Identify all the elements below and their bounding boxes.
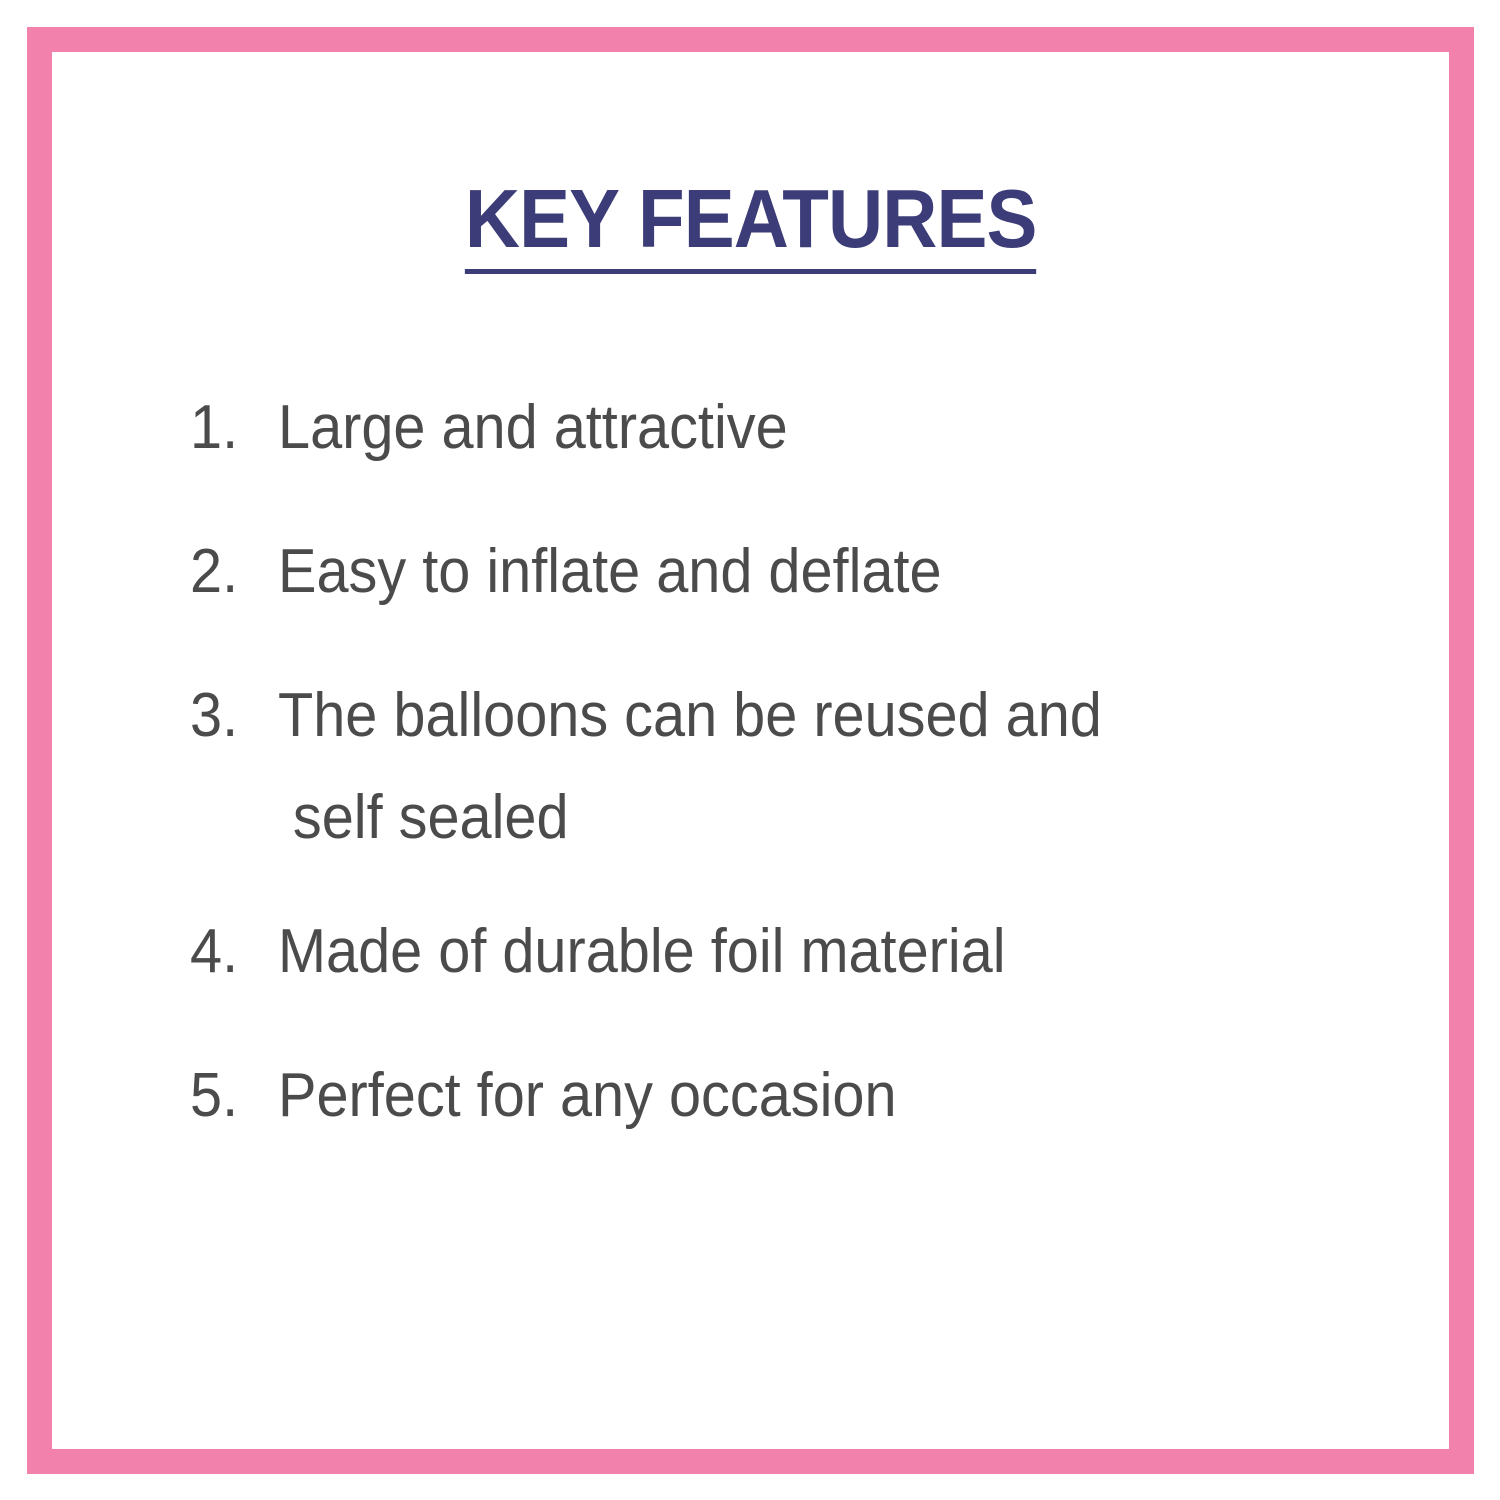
list-item-number: 5. <box>190 1065 272 1127</box>
list-item: 4. Made of durable foil material <box>190 921 1430 983</box>
poster-content: KEY FEATURES 1. Large and attractive 2. … <box>52 52 1449 1449</box>
list-item: 2. Easy to inflate and deflate <box>190 541 1430 603</box>
list-item: 3. The balloons can be reused and self s… <box>190 685 1430 849</box>
list-item-number: 2. <box>190 541 272 603</box>
feature-list: 1. Large and attractive 2. Easy to infla… <box>190 397 1430 1209</box>
title-block: KEY FEATURES <box>52 177 1449 274</box>
list-item-text-line2: self sealed <box>278 787 1349 849</box>
list-item-text-line1: The balloons can be reused and <box>278 681 1102 750</box>
list-item: 5. Perfect for any occasion <box>190 1065 1430 1127</box>
list-item-number: 3. <box>190 685 272 747</box>
list-item-text: Large and attractive <box>278 397 1349 459</box>
list-item-text: Easy to inflate and deflate <box>278 541 1349 603</box>
list-item-text: The balloons can be reused and self seal… <box>278 685 1349 849</box>
key-features-poster: KEY FEATURES 1. Large and attractive 2. … <box>0 0 1500 1500</box>
list-item-number: 4. <box>190 921 272 983</box>
list-item-number: 1. <box>190 397 272 459</box>
list-item: 1. Large and attractive <box>190 397 1430 459</box>
list-item-text: Perfect for any occasion <box>278 1065 1349 1127</box>
page-title: KEY FEATURES <box>465 177 1037 274</box>
list-item-text: Made of durable foil material <box>278 921 1349 983</box>
